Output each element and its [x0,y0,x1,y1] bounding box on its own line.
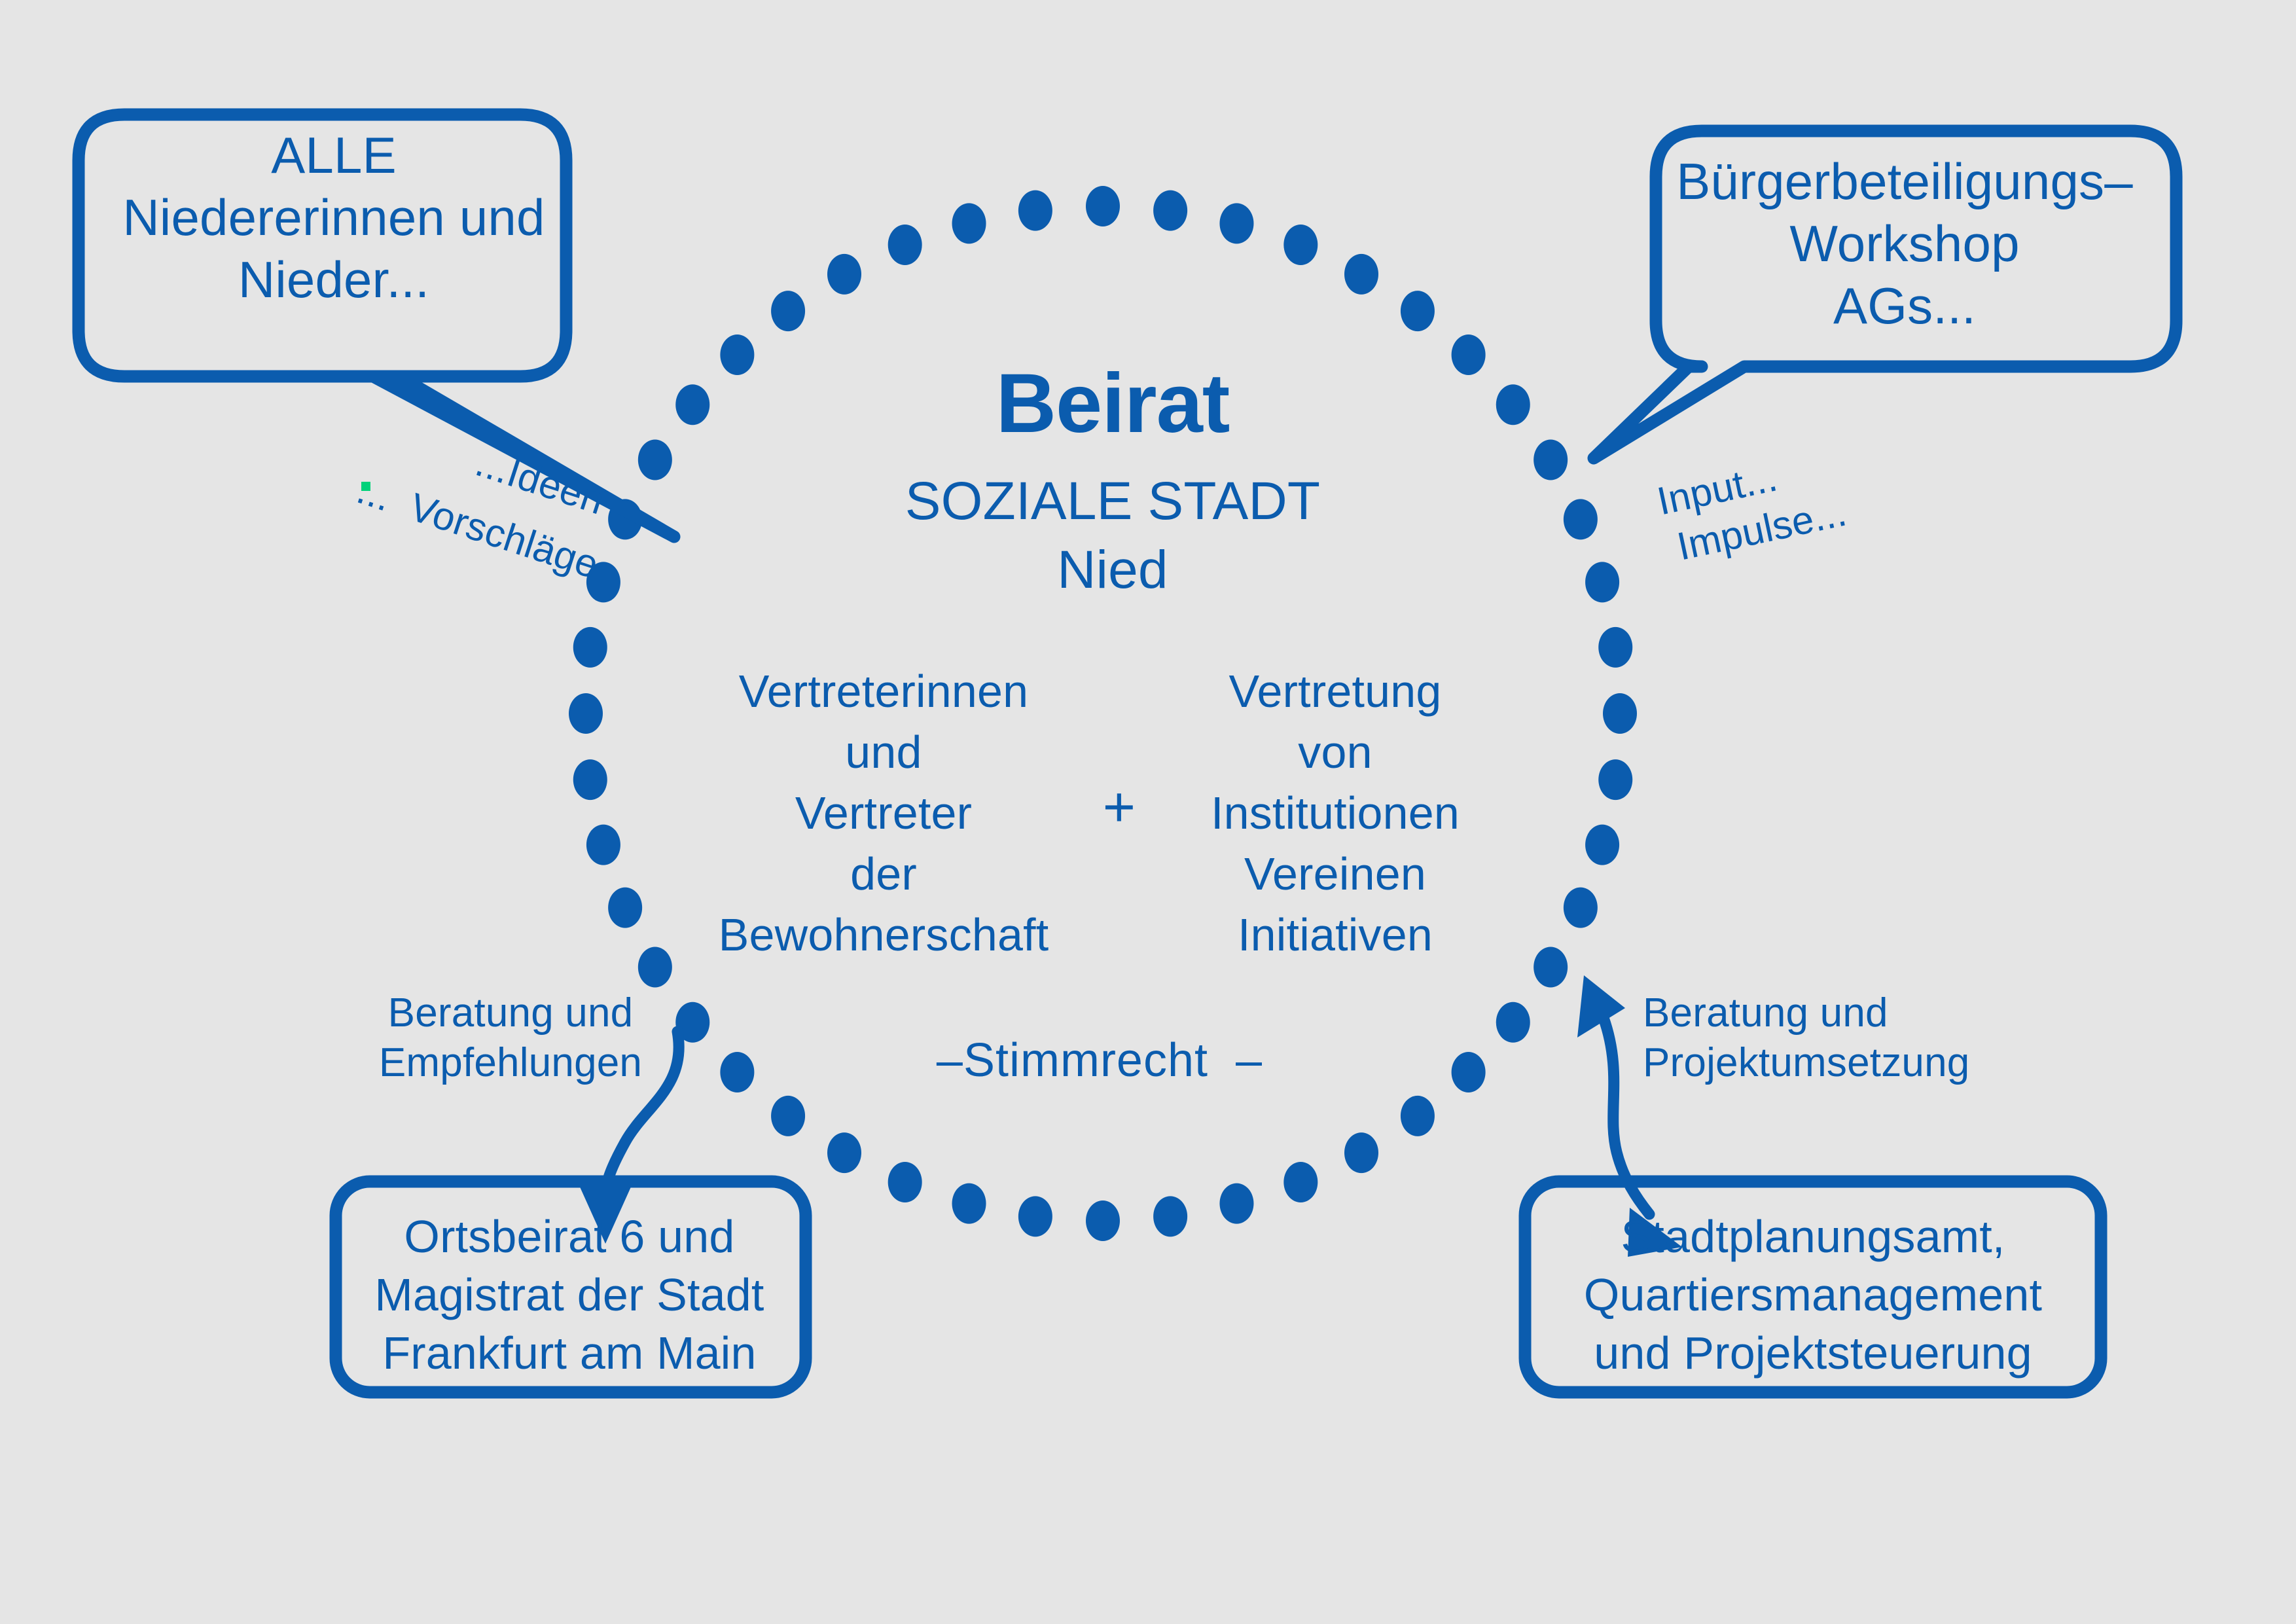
circle-dot [1283,225,1318,265]
circle-dot [1585,825,1619,865]
center-subtitle-district: Nied [772,540,1453,600]
circle-dot [1598,627,1632,668]
circle-dot [573,627,607,668]
circle-dot [1344,1132,1378,1173]
circle-dot [1603,693,1637,734]
arrow-right-label: Beratung und Projektumsetzung [1643,988,1996,1087]
circle-dot [888,1162,922,1202]
box-left-label: Ortsbeirat 6 und Magistrat der Stadt Fra… [340,1208,798,1382]
circle-dot [827,254,861,295]
center-subtitle-program: SOZIALE STADT [772,471,1453,532]
circle-dot [1598,759,1632,800]
plus-operator-icon: + [1073,776,1165,839]
circle-dot [1153,190,1187,231]
circle-dot [827,1132,861,1173]
circle-dot [720,1052,754,1092]
circle-dot [638,440,672,480]
circle-dot [1496,1002,1530,1043]
circle-dot [1086,186,1120,226]
circle-dot [1219,203,1253,244]
circle-dot [1401,291,1435,331]
circle-dot [569,693,603,734]
circle-dot [1086,1200,1120,1241]
member-group-institutions: Vertretung von Institutionen Vereinen In… [1172,661,1499,965]
speech-bubble-left-label: ALLE Niedererinnen und Nieder... [98,124,569,311]
circle-dot [1585,562,1619,602]
circle-dot [1534,947,1568,988]
circle-dot [720,334,754,375]
diagram-canvas: ALLE Niedererinnen und Nieder... Bürgerb… [0,0,2296,1624]
circle-dot [952,1183,986,1224]
circle-dot [952,203,986,244]
circle-dot [1401,1096,1435,1136]
page-title: Beirat [772,357,1453,450]
circle-dot [608,888,642,928]
circle-dot [1496,384,1530,425]
circle-dot [1564,888,1598,928]
circle-dot [573,759,607,800]
box-right-label: Stadtplanungsamt, Quartiersmanagement un… [1532,1208,2094,1382]
circle-dot [888,225,922,265]
circle-dot [771,291,805,331]
circle-dot [1283,1162,1318,1202]
circle-dot [1452,334,1486,375]
circle-dot [1153,1196,1187,1236]
circle-dot [1344,254,1378,295]
circle-dot [638,947,672,988]
circle-dot [675,384,709,425]
circle-dot [1564,499,1598,539]
speech-bubble-right-label: Bürgerbeteiligungs– Workshop AGs... [1676,151,2134,337]
member-group-residents: Vertreterinnen und Vertreter der Bewohne… [700,661,1067,965]
circle-dot [1452,1052,1486,1092]
circle-dot [586,825,620,865]
arrow-left-label: Beratung und Empfehlungen [367,988,655,1087]
circle-dot [1534,440,1568,480]
circle-dot [1018,190,1052,231]
circle-dot [1018,1196,1052,1236]
voting-rights-note: –Stimmrecht – [903,1034,1296,1087]
circle-dot [771,1096,805,1136]
circle-dot [1219,1183,1253,1224]
